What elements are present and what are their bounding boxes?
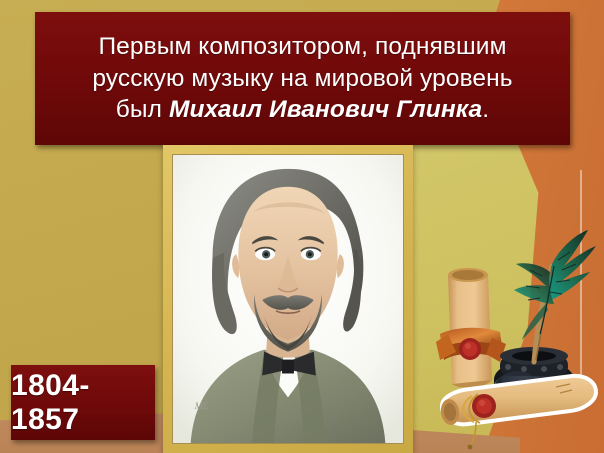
artwork-illustration — [430, 230, 604, 453]
title-line-3-suffix: . — [482, 96, 489, 123]
scroll-vertical-icon — [436, 268, 506, 388]
wax-seal-icon-horizontal — [472, 394, 496, 418]
portrait-image: ML — [172, 154, 404, 444]
date-badge-label: 1804-1857 — [11, 369, 155, 437]
portrait-illustration: ML — [173, 155, 403, 443]
scroll-and-inkwell-artwork — [430, 230, 604, 453]
title-line-3-prefix: был — [116, 96, 169, 123]
presentation-slide: Первым композитором, поднявшим русскую м… — [0, 0, 604, 453]
date-badge: 1804-1857 — [11, 365, 155, 440]
portrait-frame: ML — [163, 145, 413, 453]
title-line-1: Первым композитором, поднявшим — [98, 33, 506, 60]
quill-feather-icon — [514, 230, 596, 362]
composer-name: Михаил Иванович Глинка — [169, 96, 482, 123]
title-text: Первым композитором, поднявшим русскую м… — [92, 31, 512, 127]
title-line-2: русскую музыку на мировой уровень — [92, 65, 512, 92]
portrait-signature: ML — [194, 401, 209, 412]
wax-seal-icon-vertical — [459, 338, 481, 360]
title-banner: Первым композитором, поднявшим русскую м… — [35, 12, 570, 145]
